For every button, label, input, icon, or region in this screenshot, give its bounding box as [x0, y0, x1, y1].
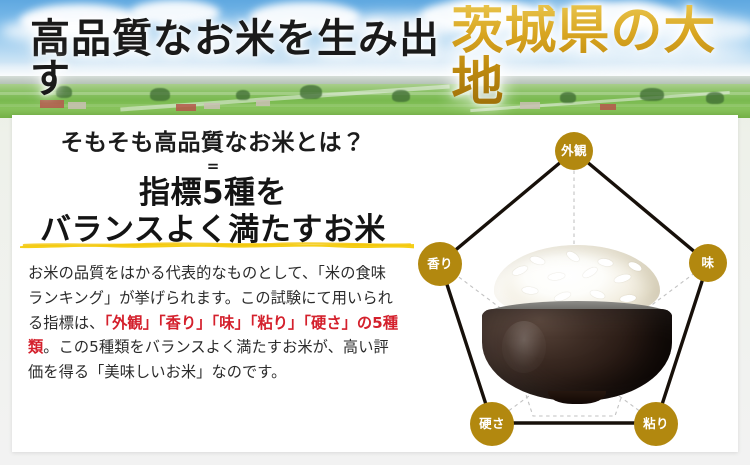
body-part-2: 。この5種類をバランスよく満たすお米が、高い評価を得る「美味しいお米」なのです。	[28, 338, 389, 381]
radar-node-aji[interactable]: 味	[689, 244, 727, 282]
hero-title-gold: 茨城県の大地	[451, 5, 750, 109]
radar-chart: 外観 味 粘り 硬さ 香り	[410, 115, 738, 452]
radar-node-katasa[interactable]: 硬さ	[470, 402, 514, 446]
hero-title: 高品質なお米を生み出す 茨城県の大地	[0, 0, 750, 118]
content-card: そもそも高品質なお米とは？ = 指標5種を バランスよく満たすお米 お米の品質を…	[12, 115, 738, 452]
answer-line-2-wrapper: バランスよく満たすお米	[20, 212, 406, 249]
radar-node-label: 香り	[427, 258, 453, 271]
answer-line-2: バランスよく満たすお米	[20, 212, 406, 249]
radar-node-label: 硬さ	[479, 418, 505, 431]
radar-node-label: 味	[702, 257, 715, 270]
question-heading: そもそも高品質なお米とは？	[20, 131, 406, 156]
hero-photo-banner: 高品質なお米を生み出す 茨城県の大地	[0, 0, 750, 118]
left-text-column: そもそも高品質なお米とは？ = 指標5種を バランスよく満たすお米 お米の品質を…	[12, 115, 420, 452]
radar-node-gaikan[interactable]: 外観	[555, 132, 593, 170]
radar-node-label: 外観	[561, 145, 587, 158]
equals-sign: =	[20, 159, 406, 174]
answer-line-1: 指標5種を	[20, 175, 406, 212]
body-paragraph: お米の品質をはかる代表的なものとして、「米の食味ランキング」が挙げられます。この…	[20, 261, 406, 384]
bowl-foot	[548, 391, 606, 404]
hero-title-dark: 高品質なお米を生み出す	[30, 19, 453, 99]
rice-bowl-image	[468, 245, 686, 403]
radar-node-kaori[interactable]: 香り	[418, 242, 462, 286]
radar-node-nebari[interactable]: 粘り	[634, 402, 678, 446]
radar-node-label: 粘り	[643, 418, 669, 431]
bowl-highlight	[502, 321, 546, 373]
